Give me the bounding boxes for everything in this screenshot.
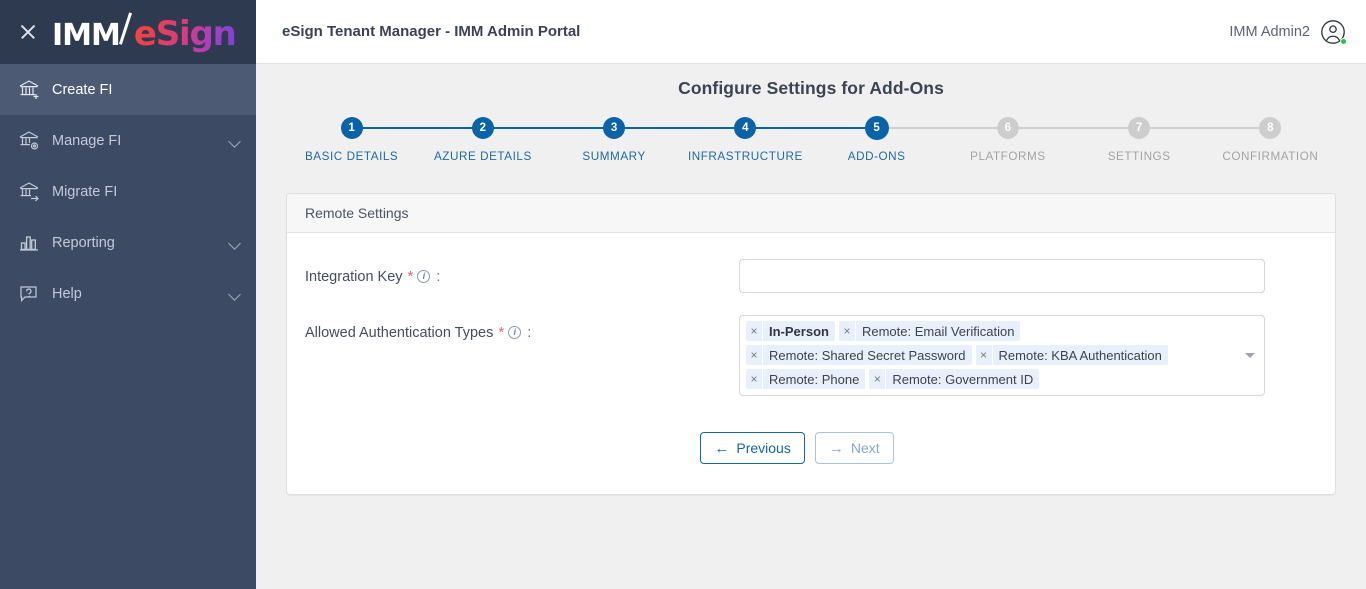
sidebar-item-label: Reporting	[52, 235, 228, 251]
page-header-title: eSign Tenant Manager - IMM Admin Portal	[282, 23, 580, 40]
stepper-label: SUMMARY	[582, 150, 645, 163]
tag-label: Remote: Shared Secret Password	[763, 345, 972, 365]
sidebar-nav: Create FI Manage FI	[0, 64, 256, 319]
sidebar-item-help[interactable]: Help	[0, 268, 256, 319]
stepper-step-settings[interactable]: 7 SETTINGS	[1074, 117, 1205, 163]
user-avatar-icon[interactable]	[1320, 19, 1346, 45]
sidebar-item-label: Create FI	[52, 82, 242, 98]
tag-remove-icon[interactable]: ×	[746, 321, 763, 341]
tag-item[interactable]: × Remote: Email Verification	[839, 321, 1020, 341]
previous-button[interactable]: ← Previous	[700, 432, 804, 464]
label-colon: :	[527, 325, 531, 341]
topbar-user-area[interactable]: IMM Admin2	[1229, 19, 1346, 45]
sidebar-item-label: Help	[52, 286, 228, 302]
stepper-step-azure-details[interactable]: 2 AZURE DETAILS	[417, 117, 548, 163]
stepper-label: INFRASTRUCTURE	[688, 150, 803, 163]
arrow-left-icon: ←	[714, 441, 729, 456]
info-icon[interactable]: i	[508, 326, 521, 339]
stepper-step-platforms[interactable]: 6 PLATFORMS	[942, 117, 1073, 163]
tag-item[interactable]: × Remote: Shared Secret Password	[746, 345, 972, 365]
required-marker: *	[408, 268, 414, 285]
tag-remove-icon[interactable]: ×	[746, 369, 763, 389]
integration-key-input[interactable]	[739, 259, 1265, 293]
app-root: IMM eSign Create FI	[0, 0, 1366, 589]
tag-remove-icon[interactable]: ×	[746, 345, 763, 365]
stepper-label: CONFIRMATION	[1222, 150, 1318, 163]
stepper-number: 4	[734, 117, 756, 139]
stepper-number: 7	[1128, 117, 1150, 139]
logo-text-imm: IMM	[52, 18, 120, 53]
sidebar: IMM eSign Create FI	[0, 0, 256, 589]
field-label-text: Allowed Authentication Types	[305, 325, 493, 341]
tag-item[interactable]: × Remote: KBA Authentication	[976, 345, 1168, 365]
bank-plus-icon	[18, 79, 52, 100]
form-row-integration-key: Integration Key * i :	[287, 259, 1335, 293]
stepper-number: 5	[866, 117, 888, 139]
sidebar-item-create-fi[interactable]: Create FI	[0, 64, 256, 115]
stepper-step-summary[interactable]: 3 SUMMARY	[549, 117, 680, 163]
sidebar-item-manage-fi[interactable]: Manage FI	[0, 115, 256, 166]
stepper-label: BASIC DETAILS	[305, 150, 398, 163]
bank-arrow-icon	[18, 181, 52, 202]
remote-settings-panel: Remote Settings Integration Key * i :	[286, 193, 1336, 495]
stepper-step-confirmation[interactable]: 8 CONFIRMATION	[1205, 117, 1336, 163]
field-label-text: Integration Key	[305, 269, 403, 285]
info-icon[interactable]: i	[417, 270, 430, 283]
sidebar-item-label: Migrate FI	[52, 184, 242, 200]
chevron-down-icon[interactable]	[228, 236, 242, 250]
bar-chart-icon	[18, 233, 52, 253]
sidebar-item-reporting[interactable]: Reporting	[0, 217, 256, 268]
content-area: Configure Settings for Add-Ons 1 BASIC D…	[256, 64, 1366, 589]
panel-title: Remote Settings	[287, 194, 1335, 233]
stepper-label: PLATFORMS	[970, 150, 1046, 163]
logo-text-esign: eSign	[134, 14, 236, 54]
label-colon: :	[436, 269, 440, 285]
allowed-auth-types-multiselect[interactable]: × In-Person × Remote: Email Verification…	[739, 315, 1265, 396]
previous-button-label: Previous	[736, 440, 790, 456]
sidebar-item-migrate-fi[interactable]: Migrate FI	[0, 166, 256, 217]
main-area: eSign Tenant Manager - IMM Admin Portal …	[256, 0, 1366, 589]
wizard-stepper: 1 BASIC DETAILS 2 AZURE DETAILS 3 SUMMAR…	[286, 117, 1336, 163]
logo-slash-icon	[120, 11, 134, 45]
sidebar-header: IMM eSign	[0, 0, 256, 64]
tag-item[interactable]: × In-Person	[746, 321, 835, 341]
page-title: Configure Settings for Add-Ons	[256, 64, 1366, 99]
tag-remove-icon[interactable]: ×	[839, 321, 856, 341]
sidebar-item-label: Manage FI	[52, 133, 228, 149]
bank-gear-icon	[18, 130, 52, 151]
tag-remove-icon[interactable]: ×	[976, 345, 993, 365]
required-marker: *	[498, 324, 504, 341]
arrow-right-icon: →	[829, 441, 844, 456]
next-button-label: Next	[851, 440, 880, 456]
stepper-number: 6	[997, 117, 1019, 139]
help-bubble-icon	[18, 284, 52, 304]
tag-item[interactable]: × Remote: Government ID	[869, 369, 1039, 389]
stepper-number: 2	[472, 117, 494, 139]
tag-label: Remote: Email Verification	[856, 321, 1020, 341]
stepper-step-add-ons[interactable]: 5 ADD-ONS	[811, 117, 942, 163]
chevron-down-icon[interactable]	[228, 134, 242, 148]
stepper-number: 8	[1259, 117, 1281, 139]
user-name-label: IMM Admin2	[1229, 24, 1310, 40]
stepper-step-infrastructure[interactable]: 4 INFRASTRUCTURE	[680, 117, 811, 163]
form-row-allowed-auth-types: Allowed Authentication Types * i : × In-…	[287, 315, 1335, 396]
topbar: eSign Tenant Manager - IMM Admin Portal …	[256, 0, 1366, 64]
tag-label: In-Person	[763, 321, 835, 341]
stepper-number: 3	[603, 117, 625, 139]
stepper-number: 1	[341, 117, 363, 139]
tag-label: Remote: KBA Authentication	[993, 345, 1168, 365]
tag-remove-icon[interactable]: ×	[869, 369, 886, 389]
status-dot	[1340, 38, 1347, 45]
tag-item[interactable]: × Remote: Phone	[746, 369, 865, 389]
next-button[interactable]: → Next	[815, 432, 894, 464]
tag-label: Remote: Government ID	[886, 369, 1039, 389]
chevron-down-icon[interactable]	[228, 287, 242, 301]
wizard-button-row: ← Previous → Next	[259, 396, 1335, 464]
stepper-label: SETTINGS	[1108, 150, 1171, 163]
close-icon[interactable]	[18, 22, 38, 42]
panel-body: Integration Key * i : Allowed Authentica…	[287, 233, 1335, 494]
app-logo: IMM eSign	[52, 11, 236, 54]
tag-label: Remote: Phone	[763, 369, 865, 389]
stepper-label: ADD-ONS	[848, 150, 906, 163]
integration-key-label: Integration Key * i :	[305, 259, 739, 285]
allowed-auth-types-label: Allowed Authentication Types * i :	[305, 315, 739, 341]
stepper-step-basic-details[interactable]: 1 BASIC DETAILS	[286, 117, 417, 163]
chevron-down-icon[interactable]	[1245, 353, 1255, 358]
stepper-label: AZURE DETAILS	[434, 150, 532, 163]
